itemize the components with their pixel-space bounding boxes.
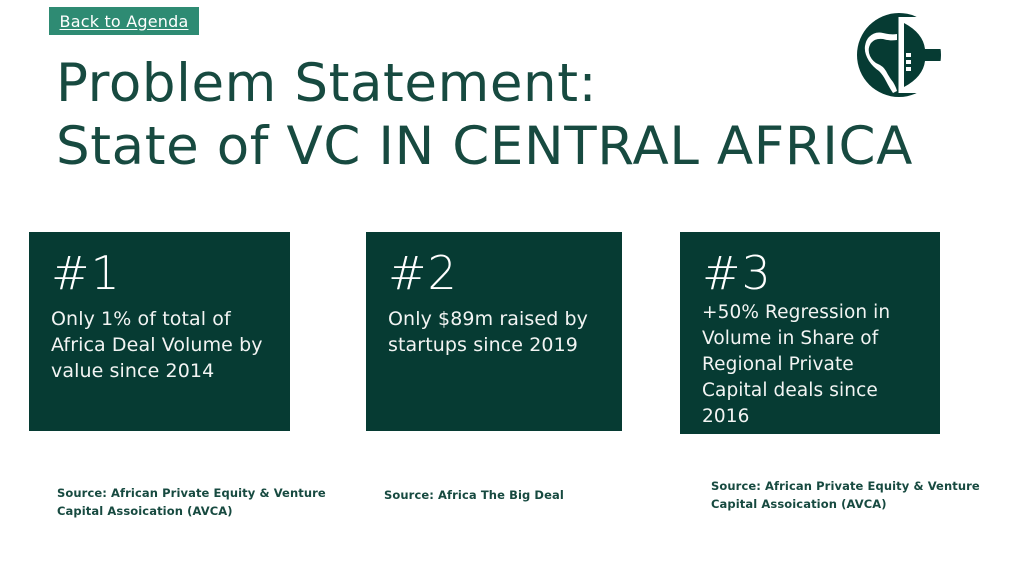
- stat-card-1: #1 Only 1% of total of Africa Deal Volum…: [29, 232, 290, 431]
- stat-card-2-text: Only $89m raised by startups since 2019: [388, 306, 604, 358]
- stat-card-2: #2 Only $89m raised by startups since 20…: [366, 232, 622, 431]
- stat-card-1-rank: #1: [51, 246, 272, 300]
- source-caption-1: Source: African Private Equity & Venture…: [57, 484, 337, 520]
- stat-card-3-rank: #3: [702, 246, 922, 300]
- stat-card-2-rank: #2: [388, 246, 604, 300]
- page-title: Problem Statement: State of VC IN CENTRA…: [56, 52, 976, 178]
- back-to-agenda-label: Back to Agenda: [60, 12, 189, 31]
- stat-card-3-text: +50% Regression in Volume in Share of Re…: [702, 300, 922, 430]
- stat-cards-row: #1 Only 1% of total of Africa Deal Volum…: [0, 232, 1024, 437]
- source-caption-3: Source: African Private Equity & Venture…: [711, 477, 1001, 513]
- back-to-agenda-button[interactable]: Back to Agenda: [49, 7, 199, 35]
- stat-card-3: #3 +50% Regression in Volume in Share of…: [680, 232, 940, 434]
- stat-card-1-text: Only 1% of total of Africa Deal Volume b…: [51, 306, 272, 384]
- page-title-line-2: State of VC IN CENTRAL AFRICA: [56, 115, 976, 178]
- source-caption-2: Source: Africa The Big Deal: [384, 486, 664, 504]
- page-title-line-1: Problem Statement:: [56, 52, 976, 115]
